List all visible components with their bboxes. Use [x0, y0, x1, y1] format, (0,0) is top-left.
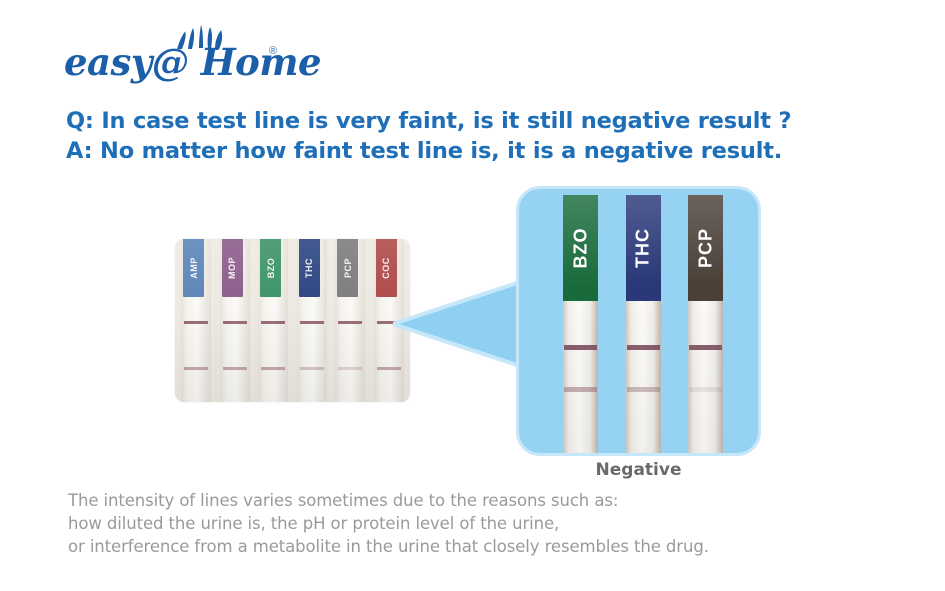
photo-strip-pcp: PCP	[335, 239, 365, 402]
control-line	[261, 321, 285, 324]
photo-strip-cap-mop: MOP	[222, 239, 243, 297]
test-strip-photo: AMP MOP BZO THC	[175, 239, 410, 402]
headline-question: Q: In case test line is very faint, is i…	[66, 106, 896, 136]
test-line	[261, 367, 285, 370]
magnified-strip-bzo: BZO	[563, 195, 598, 453]
test-line	[223, 367, 247, 370]
headline-answer: A: No matter how faint test line is, it …	[66, 136, 896, 166]
sunburst-icon	[172, 22, 230, 52]
photo-strip-row: AMP MOP BZO THC	[175, 239, 410, 402]
photo-strip-label-pcp: PCP	[343, 258, 353, 278]
control-line	[564, 345, 597, 350]
footnote-line-3: or interference from a metabolite in the…	[68, 535, 898, 558]
magnified-strip-label-pcp: PCP	[695, 228, 716, 268]
control-line	[689, 345, 722, 350]
photo-strip-mop: MOP	[220, 239, 250, 402]
test-line	[564, 387, 597, 392]
photo-strip-label-mop: MOP	[227, 257, 237, 279]
photo-strip-cap-bzo: BZO	[260, 239, 281, 297]
test-line	[300, 367, 324, 370]
brand-logo: easy@ Home ®	[64, 22, 304, 84]
magnified-strip-cap-thc: THC	[626, 195, 661, 301]
footnote-line-1: The intensity of lines varies sometimes …	[68, 489, 898, 512]
test-line	[689, 387, 722, 392]
photo-strip-cap-thc: THC	[299, 239, 320, 297]
photo-strip-bzo: BZO	[258, 239, 288, 402]
magnified-strip-panel: BZO THC PCP	[516, 186, 761, 456]
footnote-line-2: how diluted the urine is, the pH or prot…	[68, 512, 898, 535]
magnified-strip-pcp: PCP	[688, 195, 723, 453]
magnified-strip-cap-pcp: PCP	[688, 195, 723, 301]
photo-strip-cap-amp: AMP	[183, 239, 204, 297]
photo-strip-amp: AMP	[181, 239, 211, 402]
registered-trademark-mark: ®	[269, 45, 277, 57]
magnified-strip-label-bzo: BZO	[570, 228, 591, 269]
photo-strip-label-bzo: BZO	[266, 258, 276, 279]
page-headline: Q: In case test line is very faint, is i…	[66, 106, 896, 166]
magnified-strip-cap-bzo: BZO	[563, 195, 598, 301]
left-pointer-arrow-icon	[393, 278, 528, 370]
magnified-strip-row: BZO THC PCP	[563, 195, 723, 453]
photo-strip-label-amp: AMP	[189, 257, 199, 279]
photo-strip-label-coc: COC	[381, 257, 391, 279]
footnote-text: The intensity of lines varies sometimes …	[68, 489, 898, 558]
control-line	[223, 321, 247, 324]
photo-strip-thc: THC	[297, 239, 327, 402]
magnified-strip-thc: THC	[626, 195, 661, 453]
control-line	[627, 345, 660, 350]
test-line	[184, 367, 208, 370]
panel-caption: Negative	[516, 460, 761, 480]
photo-strip-cap-pcp: PCP	[337, 239, 358, 297]
photo-strip-label-thc: THC	[304, 258, 314, 278]
control-line	[184, 321, 208, 324]
control-line	[338, 321, 362, 324]
test-line	[338, 367, 362, 370]
test-line	[627, 387, 660, 392]
magnified-strip-label-thc: THC	[633, 228, 654, 268]
control-line	[300, 321, 324, 324]
